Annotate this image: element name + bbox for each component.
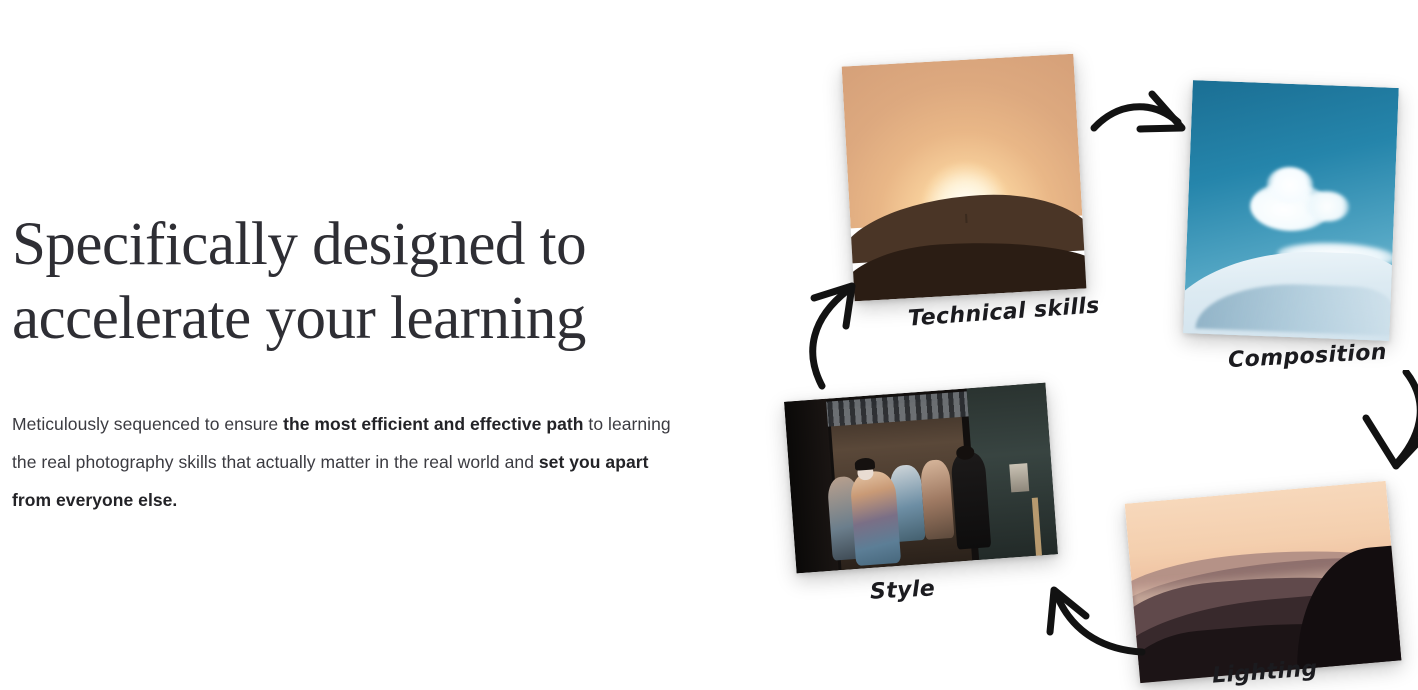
body-paragraph: Meticulously sequenced to ensure the mos… bbox=[12, 405, 684, 519]
sunset-over-hills-photo bbox=[842, 54, 1087, 302]
wall-lantern bbox=[1009, 463, 1029, 492]
caption-composition: Composition bbox=[1227, 340, 1387, 373]
japanese-street-kimono-photo bbox=[784, 383, 1058, 574]
photo-scene bbox=[1183, 80, 1399, 341]
arrow-composition-to-lighting bbox=[1358, 370, 1418, 478]
photo-card-lighting[interactable] bbox=[1125, 481, 1402, 683]
photo-scene bbox=[784, 383, 1058, 574]
photo-card-style[interactable] bbox=[784, 383, 1058, 574]
layered-mountain-ridges-at-dusk-photo bbox=[1125, 481, 1402, 683]
photo-cycle-diagram: Technical skills Composition bbox=[760, 0, 1418, 690]
photo-scene bbox=[842, 54, 1087, 302]
cloud-over-snow-dune-photo bbox=[1183, 80, 1399, 341]
photo-card-composition[interactable] bbox=[1183, 80, 1399, 341]
caption-technical-skills: Technical skills bbox=[907, 293, 1100, 331]
page-title: Specifically designed to accelerate your… bbox=[12, 208, 652, 357]
body-text-bold-1: the most efficient and effective path bbox=[283, 414, 583, 434]
body-text-part-1: Meticulously sequenced to ensure bbox=[12, 414, 283, 434]
headline-line-1: Specifically designed to bbox=[12, 208, 652, 282]
kimono-figure-hair bbox=[854, 457, 876, 471]
arrow-style-to-technical bbox=[796, 278, 876, 390]
text-column: Specifically designed to accelerate your… bbox=[12, 208, 712, 519]
headline-line-2: accelerate your learning bbox=[12, 282, 652, 356]
kimono-figure bbox=[850, 470, 901, 566]
arrow-technical-to-composition bbox=[1090, 88, 1202, 160]
learning-cycle-section: Specifically designed to accelerate your… bbox=[0, 0, 1418, 690]
photo-card-technical-skills[interactable] bbox=[842, 54, 1087, 302]
photo-scene bbox=[1125, 481, 1402, 683]
lone-person-silhouette bbox=[965, 214, 967, 223]
caption-style: Style bbox=[869, 576, 935, 604]
arrow-lighting-to-style bbox=[1036, 580, 1148, 658]
